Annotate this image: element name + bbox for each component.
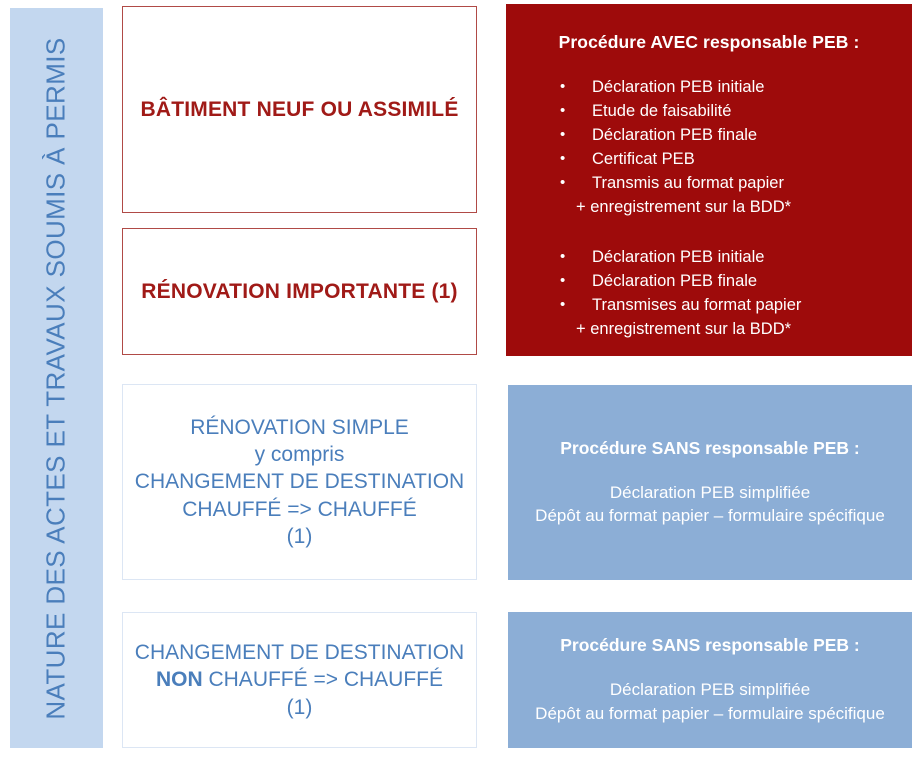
procedure-bullet-label: Déclaration PEB initiale — [592, 245, 764, 269]
bullet-dot-icon: • — [560, 171, 592, 195]
procedure-bullet-item: • Déclaration PEB finale — [506, 123, 912, 147]
category-line: (1) — [287, 694, 313, 721]
bullet-dot-icon: • — [560, 99, 592, 123]
procedure-bullet-item: • Déclaration PEB initiale — [506, 75, 912, 99]
procedure-bullet-group-2: • Déclaration PEB initiale • Déclaration… — [506, 245, 912, 341]
category-box-changement-destination: CHANGEMENT DE DESTINATION NON CHAUFFÉ =>… — [122, 612, 477, 748]
category-box-renovation-importante: RÉNOVATION IMPORTANTE (1) — [122, 228, 477, 355]
procedure-bullet-item: • Transmis au format papier — [506, 171, 912, 195]
procedure-bullet-item: • Etude de faisabilité — [506, 99, 912, 123]
category-line: CHAUFFÉ => CHAUFFÉ — [182, 496, 417, 523]
vertical-banner-label: NATURE DES ACTES ET TRAVAUX SOUMIS À PER… — [41, 37, 72, 719]
category-line: NON CHAUFFÉ => CHAUFFÉ — [156, 666, 443, 693]
procedure-line: Dépôt au format papier – formulaire spéc… — [535, 504, 885, 527]
procedure-panel-sans-responsable-1: Procédure SANS responsable PEB : Déclara… — [508, 385, 912, 580]
procedure-bullet-item: • Déclaration PEB finale — [506, 269, 912, 293]
bullet-dot-icon: • — [560, 269, 592, 293]
procedure-line: Déclaration PEB simplifiée — [610, 678, 810, 701]
bullet-dot-icon: • — [560, 123, 592, 147]
procedure-bullet-label: Certificat PEB — [592, 147, 695, 171]
category-box-renovation-simple: RÉNOVATION SIMPLE y compris CHANGEMENT D… — [122, 384, 477, 580]
procedure-bullet-label: Transmis au format papier — [592, 171, 784, 195]
bullet-dot-icon: • — [560, 147, 592, 171]
category-box-batiment-neuf: BÂTIMENT NEUF OU ASSIMILÉ — [122, 6, 477, 213]
procedure-bullet-label: Déclaration PEB finale — [592, 123, 757, 147]
procedure-heading: Procédure AVEC responsable PEB : — [506, 32, 912, 53]
category-title: RÉNOVATION IMPORTANTE (1) — [141, 280, 458, 304]
bullet-dot-icon: • — [560, 245, 592, 269]
category-line-emphasis: NON — [156, 668, 203, 691]
diagram-canvas: NATURE DES ACTES ET TRAVAUX SOUMIS À PER… — [0, 0, 912, 757]
procedure-panel-sans-responsable-2: Procédure SANS responsable PEB : Déclara… — [508, 612, 912, 748]
procedure-bullet-group-1: • Déclaration PEB initiale • Etude de fa… — [506, 75, 912, 219]
category-title: BÂTIMENT NEUF OU ASSIMILÉ — [140, 98, 458, 122]
procedure-line: Déclaration PEB simplifiée — [610, 481, 810, 504]
category-line: RÉNOVATION SIMPLE — [190, 414, 409, 441]
category-line: CHANGEMENT DE DESTINATION — [135, 639, 464, 666]
procedure-bullet-item: • Certificat PEB — [506, 147, 912, 171]
procedure-panel-avec-responsable: Procédure AVEC responsable PEB : • Décla… — [506, 4, 912, 356]
procedure-bullet-note: + enregistrement sur la BDD* — [506, 317, 912, 341]
procedure-bullet-label: Etude de faisabilité — [592, 99, 731, 123]
category-line: (1) — [287, 523, 313, 550]
procedure-bullet-item: • Déclaration PEB initiale — [506, 245, 912, 269]
procedure-bullet-note: + enregistrement sur la BDD* — [506, 195, 912, 219]
procedure-bullet-label: Déclaration PEB initiale — [592, 75, 764, 99]
procedure-line: Dépôt au format papier – formulaire spéc… — [535, 702, 885, 725]
bullet-dot-icon: • — [560, 75, 592, 99]
procedure-bullet-label: Déclaration PEB finale — [592, 269, 757, 293]
category-line-rest: CHAUFFÉ => CHAUFFÉ — [203, 668, 443, 691]
procedure-bullet-label: Transmises au format papier — [592, 293, 801, 317]
procedure-heading: Procédure SANS responsable PEB : — [560, 438, 860, 459]
bullet-dot-icon: • — [560, 293, 592, 317]
vertical-banner: NATURE DES ACTES ET TRAVAUX SOUMIS À PER… — [10, 8, 103, 748]
category-line: y compris — [255, 441, 345, 468]
procedure-bullet-item: • Transmises au format papier — [506, 293, 912, 317]
category-line: CHANGEMENT DE DESTINATION — [135, 468, 464, 495]
procedure-heading: Procédure SANS responsable PEB : — [560, 635, 860, 656]
